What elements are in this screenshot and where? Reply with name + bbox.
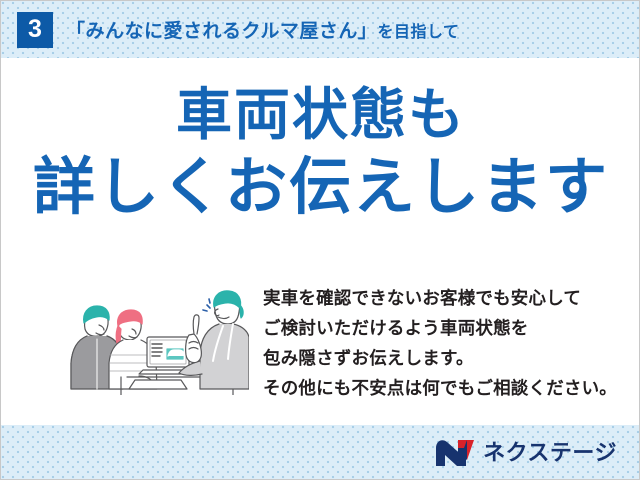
body-copy-line-4: その他にも不安点は何でもご相談ください。 xyxy=(263,373,623,403)
headline-line-1: 車両状態も xyxy=(1,87,640,143)
consultation-illustration xyxy=(63,277,249,395)
body-copy-line-3: 包み隠さずお伝えします。 xyxy=(263,343,623,373)
headline-line-2: 詳しくお伝えします xyxy=(1,157,640,219)
step-number-badge: 3 xyxy=(17,12,53,48)
header: 3 「みんなに愛されるクルマ屋さん」を目指して xyxy=(1,1,640,58)
brand-logo: ネクステージ xyxy=(436,437,617,469)
n-logo-icon xyxy=(436,439,474,467)
advertisement-page: 3 「みんなに愛されるクルマ屋さん」を目指して 車両状態も 詳しくお伝えします xyxy=(0,0,640,480)
headline: 車両状態も 詳しくお伝えします xyxy=(1,87,640,219)
header-title-main: 「みんなに愛されるクルマ屋さん」 xyxy=(66,21,377,42)
consultation-illustration-svg xyxy=(63,277,249,395)
body-copy-line-1: 実車を確認できないお客様でも安心して xyxy=(263,283,623,313)
header-title-tail: を目指して xyxy=(377,24,459,41)
header-title: 「みんなに愛されるクルマ屋さん」を目指して xyxy=(66,16,459,43)
body-copy: 実車を確認できないお客様でも安心して ご検討いただけるよう車両状態を 包み隠さず… xyxy=(263,283,623,403)
brand-name: ネクステージ xyxy=(483,442,617,464)
body-copy-line-2: ご検討いただけるよう車両状態を xyxy=(263,313,623,343)
